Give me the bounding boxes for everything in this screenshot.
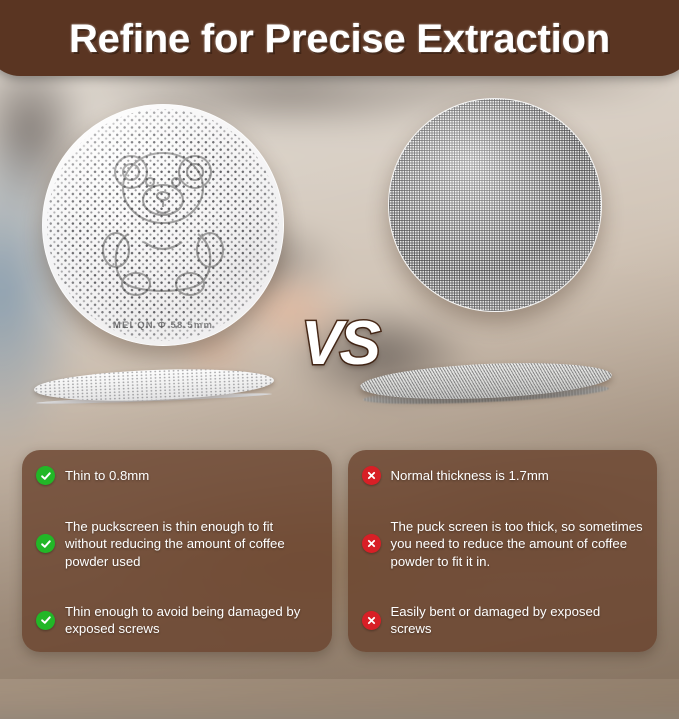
con-bullet-3: Easily bent or damaged by exposed screws — [362, 603, 644, 638]
product-comparison-stage: MEI QN Φ 58.5mm VS — [0, 76, 679, 448]
pro-bullet-2: The puckscreen is thin enough to fit wit… — [36, 518, 318, 571]
left-screen-plate — [34, 365, 275, 404]
con-bullet-2: The puck screen is too thick, so sometim… — [362, 518, 644, 571]
check-circle-icon — [36, 466, 55, 485]
pros-panel: Thin to 0.8mm The puckscreen is thin eno… — [22, 450, 332, 652]
pro-bullet-2-text: The puckscreen is thin enough to fit wit… — [65, 518, 318, 571]
pro-bullet-3-text: Thin enough to avoid being damaged by ex… — [65, 603, 318, 638]
pro-bullet-1-text: Thin to 0.8mm — [65, 467, 149, 485]
x-circle-icon — [362, 466, 381, 485]
con-bullet-3-text: Easily bent or damaged by exposed screws — [391, 603, 644, 638]
cons-panel: Normal thickness is 1.7mm The puck scree… — [348, 450, 658, 652]
x-circle-icon — [362, 534, 381, 553]
right-mesh-screen-front-view — [388, 98, 602, 312]
right-mesh-screen-side-view — [360, 364, 612, 412]
header-banner: Refine for Precise Extraction — [0, 0, 679, 76]
right-screen-plate — [359, 358, 612, 403]
con-bullet-1: Normal thickness is 1.7mm — [362, 466, 644, 485]
left-product-group: MEI QN Φ 58.5mm — [0, 76, 340, 448]
left-puck-screen-front-view: MEI QN Φ 58.5mm — [42, 104, 284, 346]
check-circle-icon — [36, 611, 55, 630]
versus-badge: VS — [301, 308, 378, 379]
con-bullet-2-text: The puck screen is too thick, so sometim… — [391, 518, 644, 571]
x-circle-icon — [362, 611, 381, 630]
con-bullet-1-text: Normal thickness is 1.7mm — [391, 467, 549, 485]
pro-bullet-1: Thin to 0.8mm — [36, 466, 318, 485]
right-product-group — [340, 76, 679, 448]
left-screen-sheen — [43, 105, 283, 345]
comparison-panels: Thin to 0.8mm The puckscreen is thin eno… — [0, 450, 679, 652]
pro-bullet-3: Thin enough to avoid being damaged by ex… — [36, 603, 318, 638]
left-puck-screen-side-view — [34, 366, 274, 406]
right-screen-gloss — [389, 99, 601, 311]
check-circle-icon — [36, 534, 55, 553]
page-title: Refine for Precise Extraction — [69, 17, 610, 62]
left-screen-engraving-text: MEI QN Φ 58.5mm — [43, 320, 283, 331]
